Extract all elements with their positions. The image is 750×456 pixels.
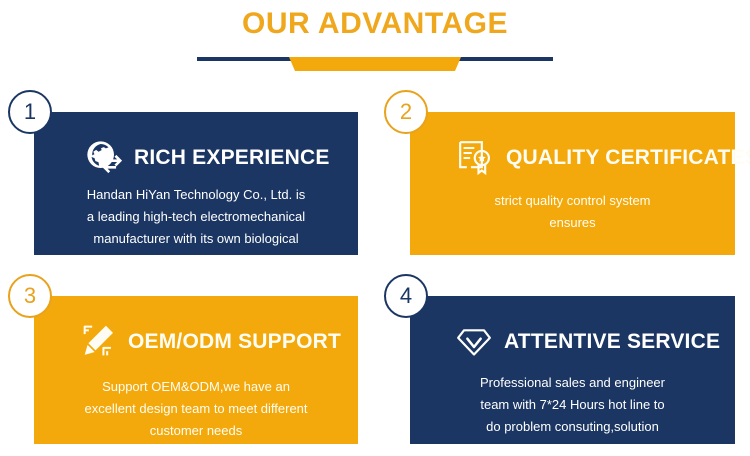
- card-title: OEM/ODM SUPPORT: [128, 330, 341, 354]
- card-body-line: research and development base.: [52, 250, 340, 272]
- card-body-line: customer needs: [52, 420, 340, 442]
- card-number-badge: 3: [8, 274, 52, 318]
- globe-exchange-icon: [84, 138, 124, 178]
- card-heading-row: OEM/ODM SUPPORT: [34, 322, 358, 362]
- card-heading-row: RICH EXPERIENCE: [34, 138, 358, 178]
- card-body-line: team with 7*24 Hours hot line to: [428, 394, 717, 416]
- pencil-ruler-icon: [78, 322, 118, 362]
- advantage-card-quality-certificates[interactable]: 2 QUALITY CERTIFICATES strict quality co…: [410, 112, 735, 255]
- page-title: OUR ADVANTAGE: [0, 7, 750, 41]
- card-body-text: strict quality control system ensures: [410, 190, 735, 234]
- advantage-card-oem-odm-support[interactable]: 3 OEM/ODM SUPPORT Support OEM&ODM,we hav…: [34, 296, 358, 444]
- card-number-badge: 2: [384, 90, 428, 134]
- card-number-badge: 4: [384, 274, 428, 318]
- page-header: OUR ADVANTAGE: [0, 0, 750, 80]
- card-title: RICH EXPERIENCE: [134, 146, 330, 170]
- advantage-card-rich-experience[interactable]: 1 RICH EXPERIENCE Handan HiYan Technolog…: [34, 112, 358, 255]
- card-body-line: ensures: [428, 212, 717, 234]
- card-body-line: a leading high-tech electromechanical: [52, 206, 340, 228]
- advantage-card-attentive-service[interactable]: 4 ATTENTIVE SERVICE Professional sales a…: [410, 296, 735, 444]
- card-body-text: Professional sales and engineer team wit…: [410, 372, 735, 438]
- card-body-line: excellent design team to meet different: [52, 398, 340, 420]
- diamond-check-icon: [454, 322, 494, 362]
- card-title: ATTENTIVE SERVICE: [504, 330, 720, 354]
- card-body-line: strict quality control system: [428, 190, 717, 212]
- title-divider: [197, 57, 553, 75]
- card-body-text: Handan HiYan Technology Co., Ltd. is a l…: [34, 184, 358, 272]
- card-number-badge: 1: [8, 90, 52, 134]
- card-body-line: Support OEM&ODM,we have an: [52, 376, 340, 398]
- card-heading-row: QUALITY CERTIFICATES: [410, 138, 735, 178]
- card-body-line: manufacturer with its own biological: [52, 228, 340, 250]
- divider-accent-tab: [285, 57, 465, 71]
- card-heading-row: ATTENTIVE SERVICE: [410, 322, 735, 362]
- card-body-line: do problem consuting,solution: [428, 416, 717, 438]
- card-body-line: Handan HiYan Technology Co., Ltd. is: [52, 184, 340, 206]
- certificate-award-icon: [456, 138, 496, 178]
- card-title: QUALITY CERTIFICATES: [506, 146, 750, 170]
- card-body-text: Support OEM&ODM,we have an excellent des…: [34, 376, 358, 442]
- card-body-line: Professional sales and engineer: [428, 372, 717, 394]
